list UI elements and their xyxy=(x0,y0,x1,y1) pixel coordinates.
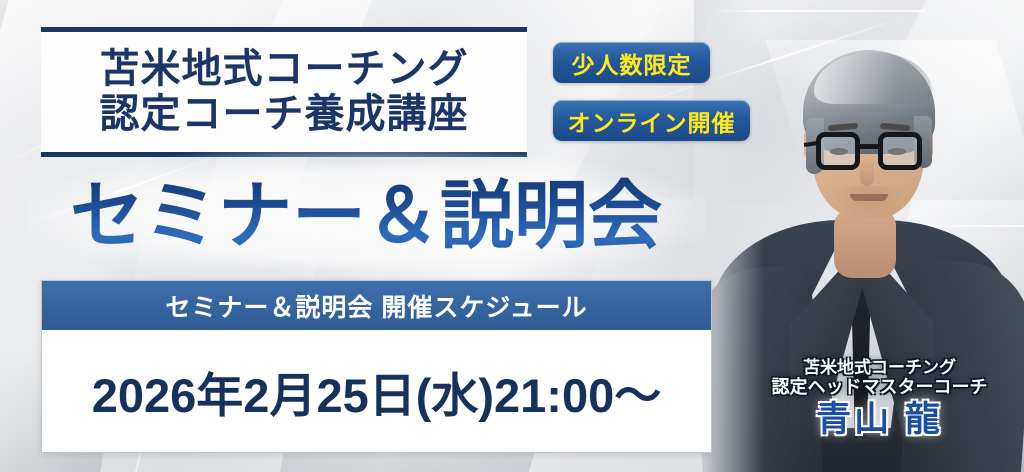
presenter-caption: 苫米地式コーチング 認定ヘッドマスターコーチ 青山 龍 xyxy=(735,358,1024,439)
schedule-panel: セミナー＆説明会 開催スケジュール 2026年2月25日(水)21:00〜 xyxy=(41,280,712,453)
schedule-header-bar: セミナー＆説明会 開催スケジュール xyxy=(42,281,711,330)
course-title-line-2: 認定コーチ養成講座 xyxy=(100,93,469,136)
presenter-role-line-2: 認定ヘッドマスターコーチ xyxy=(735,377,1024,397)
chin-shadow xyxy=(834,186,904,220)
glasses-lens-left xyxy=(816,132,860,170)
headline-area: セミナー＆説明会 xyxy=(36,166,696,266)
course-title-box: 苫米地式コーチング 認定コーチ養成講座 xyxy=(41,27,527,157)
presenter-name: 青山 龍 xyxy=(735,400,1024,439)
schedule-date-text: 2026年2月25日(水)21:00〜 xyxy=(42,330,711,452)
seminar-banner: 苫米地式コーチング 認定コーチ養成講座 少人数限定 オンライン開催 セミナー＆説… xyxy=(0,0,1024,472)
course-title-line-1: 苫米地式コーチング xyxy=(100,48,469,91)
badge-limited-seats: 少人数限定 xyxy=(553,42,710,83)
headline-text: セミナー＆説明会 xyxy=(36,166,696,266)
nose xyxy=(860,158,874,186)
badge-online-event: オンライン開催 xyxy=(553,100,750,141)
glasses-lens-right xyxy=(878,132,922,170)
mouth xyxy=(850,194,888,201)
presenter-role-line-1: 苫米地式コーチング xyxy=(735,358,1024,377)
glasses-bridge xyxy=(860,144,878,149)
